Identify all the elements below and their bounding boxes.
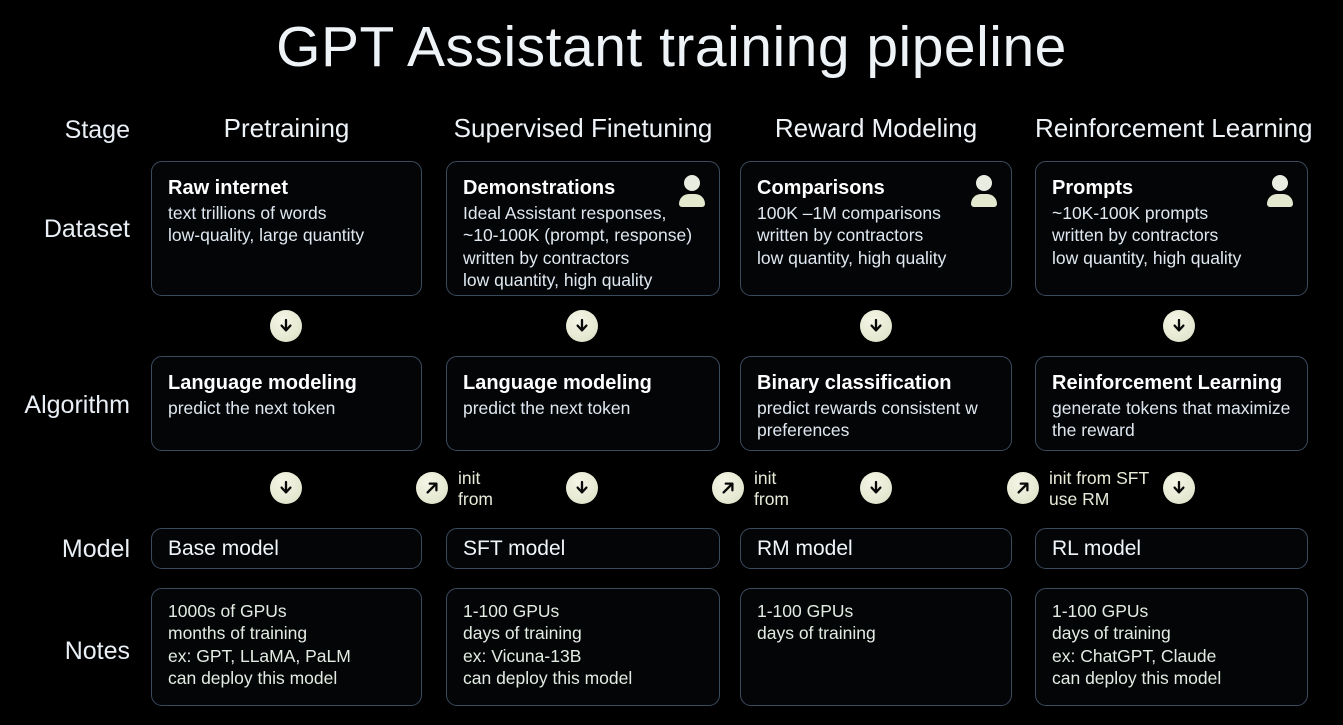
dataset-card-line: 100K –1M comparisons	[757, 202, 995, 225]
page-title: GPT Assistant training pipeline	[0, 14, 1343, 80]
person-icon-head	[976, 175, 992, 191]
dataset-card-title: Comparisons	[757, 176, 995, 201]
dataset-card-line: ~10-100K (prompt, response)	[463, 224, 703, 247]
person-icon	[1267, 175, 1293, 205]
person-icon	[679, 175, 705, 205]
row-label-dataset: Dataset	[0, 215, 130, 244]
stage-header-supervised-finetuning: Supervised Finetuning	[446, 113, 720, 144]
model-card-label: Base model	[168, 537, 279, 561]
init-from-caption-sft: init from	[458, 468, 493, 510]
model-card-supervised-finetuning[interactable]: SFT model	[446, 528, 720, 569]
dataset-card-line: written by contractors	[463, 247, 703, 270]
arrow-down-icon[interactable]	[566, 472, 598, 504]
arrow-down-icon[interactable]	[566, 310, 598, 342]
model-card-label: RM model	[757, 537, 853, 561]
algorithm-card-title: Language modeling	[463, 371, 703, 396]
dataset-card-reward-modeling[interactable]: Comparisons 100K –1M comparisons written…	[740, 161, 1012, 296]
notes-card-reward-modeling[interactable]: 1-100 GPUs days of training	[740, 588, 1012, 706]
dataset-card-title: Raw internet	[168, 176, 405, 201]
dataset-card-line: Ideal Assistant responses,	[463, 202, 703, 225]
algorithm-card-title: Language modeling	[168, 371, 405, 396]
notes-card-line: can deploy this model	[168, 667, 405, 689]
notes-card-supervised-finetuning[interactable]: 1-100 GPUs days of training ex: Vicuna-1…	[446, 588, 720, 706]
notes-card-line: months of training	[168, 622, 405, 644]
algorithm-card-reward-modeling[interactable]: Binary classification predict rewards co…	[740, 356, 1012, 451]
stage-header-reward-modeling: Reward Modeling	[740, 113, 1012, 144]
algorithm-card-title: Binary classification	[757, 371, 995, 396]
dataset-card-title: Prompts	[1052, 176, 1291, 201]
dataset-card-line: written by contractors	[757, 224, 995, 247]
dataset-card-line: written by contractors	[1052, 224, 1291, 247]
person-icon-body	[971, 194, 997, 207]
notes-card-line: ex: ChatGPT, Claude	[1052, 645, 1291, 667]
dataset-card-line: ~10K-100K prompts	[1052, 202, 1291, 225]
dataset-card-line: low quantity, high quality	[1052, 247, 1291, 270]
arrow-down-icon[interactable]	[1163, 310, 1195, 342]
algorithm-card-line: generate tokens that maximize the reward	[1052, 397, 1291, 442]
arrow-up-right-icon[interactable]	[416, 472, 448, 504]
notes-card-line: ex: GPT, LLaMA, PaLM	[168, 645, 405, 667]
algorithm-card-title: Reinforcement Learning	[1052, 371, 1291, 396]
arrow-down-icon[interactable]	[270, 310, 302, 342]
dataset-card-reinforcement-learning[interactable]: Prompts ~10K-100K prompts written by con…	[1035, 161, 1308, 296]
notes-card-line: days of training	[463, 622, 703, 644]
arrow-down-icon[interactable]	[860, 472, 892, 504]
init-from-caption-rm: init from	[754, 468, 789, 510]
notes-card-line: 1-100 GPUs	[757, 600, 995, 622]
row-label-algorithm: Algorithm	[0, 391, 130, 420]
stage-header-reinforcement-learning: Reinforcement Learning	[1035, 113, 1308, 144]
dataset-card-pretraining[interactable]: Raw internet text trillions of words low…	[151, 161, 422, 296]
algorithm-card-line: predict rewards consistent w preferences	[757, 397, 995, 442]
algorithm-card-line: predict the next token	[463, 397, 703, 420]
model-card-label: SFT model	[463, 537, 565, 561]
notes-card-line: days of training	[1052, 622, 1291, 644]
dataset-card-line: low quantity, high quality	[463, 269, 703, 292]
notes-card-line: 1-100 GPUs	[1052, 600, 1291, 622]
notes-card-line: can deploy this model	[463, 667, 703, 689]
model-card-label: RL model	[1052, 537, 1141, 561]
dataset-card-line: low quantity, high quality	[757, 247, 995, 270]
person-icon	[971, 175, 997, 205]
row-label-stage: Stage	[0, 116, 130, 145]
init-from-caption-rl: init from SFT use RM	[1049, 468, 1149, 510]
person-icon-body	[1267, 194, 1293, 207]
person-icon-head	[1272, 175, 1288, 191]
person-icon-body	[679, 194, 705, 207]
arrow-up-right-icon[interactable]	[1007, 472, 1039, 504]
notes-card-reinforcement-learning[interactable]: 1-100 GPUs days of training ex: ChatGPT,…	[1035, 588, 1308, 706]
notes-card-line: can deploy this model	[1052, 667, 1291, 689]
row-label-model: Model	[0, 535, 130, 564]
stage-header-pretraining: Pretraining	[151, 113, 422, 144]
arrow-down-icon[interactable]	[270, 472, 302, 504]
notes-card-line: ex: Vicuna-13B	[463, 645, 703, 667]
algorithm-card-pretraining[interactable]: Language modeling predict the next token	[151, 356, 422, 451]
row-label-notes: Notes	[0, 637, 130, 666]
notes-card-line: 1000s of GPUs	[168, 600, 405, 622]
model-card-reward-modeling[interactable]: RM model	[740, 528, 1012, 569]
dataset-card-title: Demonstrations	[463, 176, 703, 201]
model-card-reinforcement-learning[interactable]: RL model	[1035, 528, 1308, 569]
arrow-down-icon[interactable]	[860, 310, 892, 342]
model-card-pretraining[interactable]: Base model	[151, 528, 422, 569]
person-icon-head	[684, 175, 700, 191]
algorithm-card-line: predict the next token	[168, 397, 405, 420]
notes-card-pretraining[interactable]: 1000s of GPUs months of training ex: GPT…	[151, 588, 422, 706]
dataset-card-line: text trillions of words	[168, 202, 405, 225]
algorithm-card-reinforcement-learning[interactable]: Reinforcement Learning generate tokens t…	[1035, 356, 1308, 451]
dataset-card-line: low-quality, large quantity	[168, 224, 405, 247]
notes-card-line: 1-100 GPUs	[463, 600, 703, 622]
arrow-up-right-icon[interactable]	[712, 472, 744, 504]
algorithm-card-supervised-finetuning[interactable]: Language modeling predict the next token	[446, 356, 720, 451]
dataset-card-supervised-finetuning[interactable]: Demonstrations Ideal Assistant responses…	[446, 161, 720, 296]
notes-card-line: days of training	[757, 622, 995, 644]
arrow-down-icon[interactable]	[1163, 472, 1195, 504]
